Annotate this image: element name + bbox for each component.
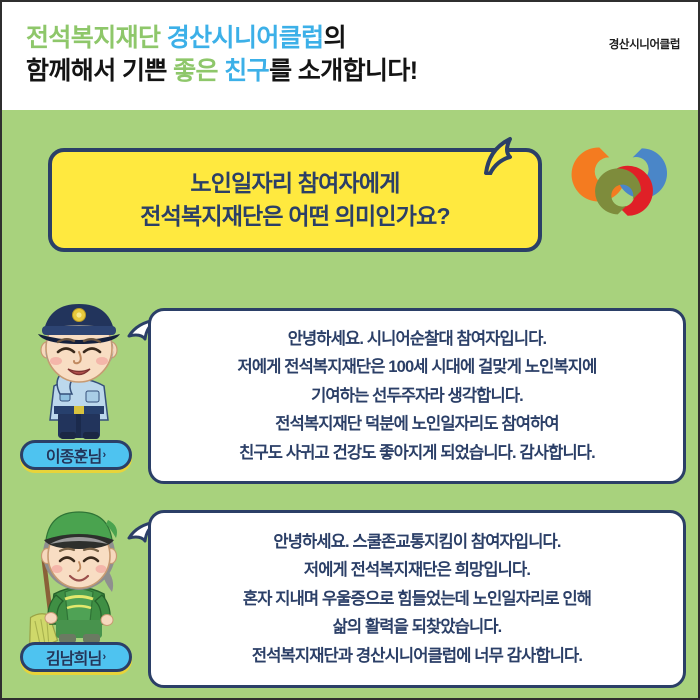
answer-1-line-2: 저에게 전석복지재단은 100세 시대에 걸맞게 노인복지에 [238, 353, 597, 381]
testimonial-person-1: 안녕하세요. 시니어순찰대 참여자입니다. 저에게 전석복지재단은 100세 시… [2, 290, 700, 490]
four-petal-flower-logo-icon [562, 128, 682, 246]
answer-1-line-4: 전석복지재단 덕분에 노인일자리도 참여하여 [275, 410, 558, 438]
question-line-2: 전석복지재단은 어떤 의미인가요? [140, 200, 449, 233]
title-part-happy: 함께해서 기쁜 [26, 57, 173, 85]
question-line-1: 노인일자리 참여자에게 [190, 167, 399, 200]
chevron-right-icon: › [103, 651, 107, 663]
page-title: 전석복지재단 경산시니어클럽의 함께해서 기쁜 좋은 친구를 소개합니다! [26, 22, 418, 87]
answer-2-line-4: 삶의 활력을 되찾았습니다. [333, 613, 502, 641]
question-bubble-tail-icon [480, 133, 530, 175]
senior-school-zone-guard-woman-avatar [20, 496, 138, 646]
title-part-suffix: 의 [324, 24, 346, 52]
answer-2-line-1: 안녕하세요. 스쿨존교통지킴이 참여자입니다. [273, 528, 560, 556]
answer-1-line-1: 안녕하세요. 시니어순찰대 참여자입니다. [288, 325, 547, 353]
question-bubble: 노인일자리 참여자에게 전석복지재단은 어떤 의미인가요? [48, 148, 542, 252]
nametag-person-2[interactable]: 김남희님 › [20, 642, 132, 672]
title-line-2: 함께해서 기쁜 좋은 친구를 소개합니다! [26, 55, 418, 88]
brand-wordmark: 경산시니어클럽 [609, 36, 680, 52]
answer-1-line-5: 친구도 사귀고 건강도 좋아지게 되었습니다. 감사합니다. [239, 439, 595, 467]
title-part-club: 경산시니어클럽 [160, 24, 323, 52]
testimonial-person-2: 안녕하세요. 스쿨존교통지킴이 참여자입니다. 저에게 전석복지재단은 희망입니… [2, 496, 700, 692]
title-part-introduce: 를 소개합니다! [269, 57, 417, 85]
answer-2-line-2: 저에게 전석복지재단은 희망입니다. [304, 556, 530, 584]
title-line-1: 전석복지재단 경산시니어클럽의 [26, 22, 418, 55]
nametag-label-1: 이종훈님 [46, 443, 102, 467]
title-part-friend: 친구 [218, 57, 269, 85]
title-part-foundation: 전석복지재단 [26, 24, 160, 52]
nametag-label-2: 김남희님 [46, 645, 102, 669]
answer-bubble-2: 안녕하세요. 스쿨존교통지킴이 참여자입니다. 저에게 전석복지재단은 희망입니… [148, 510, 686, 688]
header-band: 전석복지재단 경산시니어클럽의 함께해서 기쁜 좋은 친구를 소개합니다! 경산… [2, 2, 700, 110]
senior-police-patrol-man-avatar [20, 290, 138, 440]
answer-1-line-3: 기여하는 선두주자라 생각합니다. [311, 382, 523, 410]
answer-2-line-5: 전석복지재단과 경산시니어클럽에 너무 감사합니다. [252, 642, 582, 670]
answer-2-line-3: 혼자 지내며 우울증으로 힘들었는데 노인일자리로 인해 [243, 585, 591, 613]
nametag-person-1[interactable]: 이종훈님 › [20, 440, 132, 470]
answer-bubble-1: 안녕하세요. 시니어순찰대 참여자입니다. 저에게 전석복지재단은 100세 시… [148, 308, 686, 484]
card-news-poster: 전석복지재단 경산시니어클럽의 함께해서 기쁜 좋은 친구를 소개합니다! 경산… [0, 0, 700, 700]
chevron-right-icon: › [103, 449, 107, 461]
title-part-good: 좋은 [173, 57, 218, 85]
